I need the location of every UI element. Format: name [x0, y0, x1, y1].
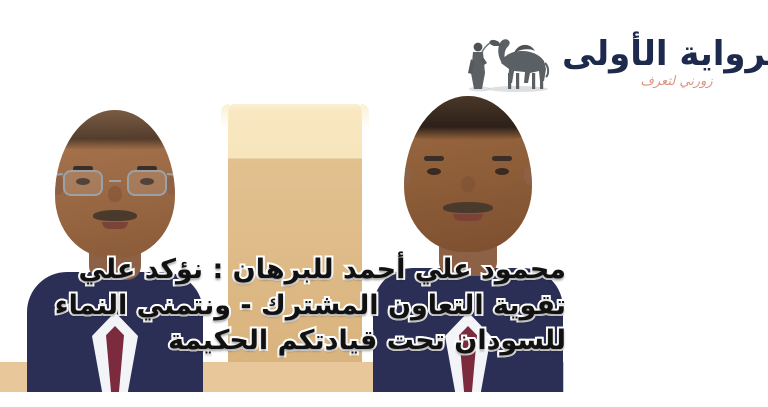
- right-eye-left: [427, 168, 441, 175]
- glasses-temple-left: [55, 173, 63, 177]
- left-head: [55, 110, 175, 258]
- logo-tagline: زورني لتعرف: [640, 75, 712, 88]
- logo-wordmark: الرواية الأولى زورني لتعرف: [562, 37, 768, 90]
- glasses-bridge: [109, 180, 121, 182]
- right-ear-right: [524, 165, 532, 185]
- glasses-lens-right: [127, 170, 167, 196]
- right-eyebrow-left: [424, 156, 444, 161]
- glasses-lens-left: [63, 170, 103, 196]
- right-nose: [461, 176, 475, 192]
- right-ear-left: [404, 165, 412, 185]
- logo-title: الرواية الأولى: [562, 37, 768, 71]
- right-eyebrow-right: [492, 156, 512, 161]
- glasses-temple-right: [167, 173, 175, 177]
- right-eye-right: [495, 168, 509, 175]
- right-head: [404, 96, 532, 252]
- left-person-portrait: [26, 102, 204, 392]
- right-person-portrait: [372, 92, 564, 392]
- eyeglasses-icon: [55, 110, 175, 258]
- right-mustache: [443, 202, 493, 213]
- right-mouth: [453, 214, 483, 221]
- news-graphic-canvas: محمود علي أحمد للبرهان : نؤكد علي تقوية …: [0, 0, 768, 407]
- site-logo[interactable]: الرواية الأولى زورني لتعرف: [456, 22, 756, 104]
- tan-backdrop-panel: [228, 104, 362, 392]
- camel-with-herder-icon: [456, 29, 556, 97]
